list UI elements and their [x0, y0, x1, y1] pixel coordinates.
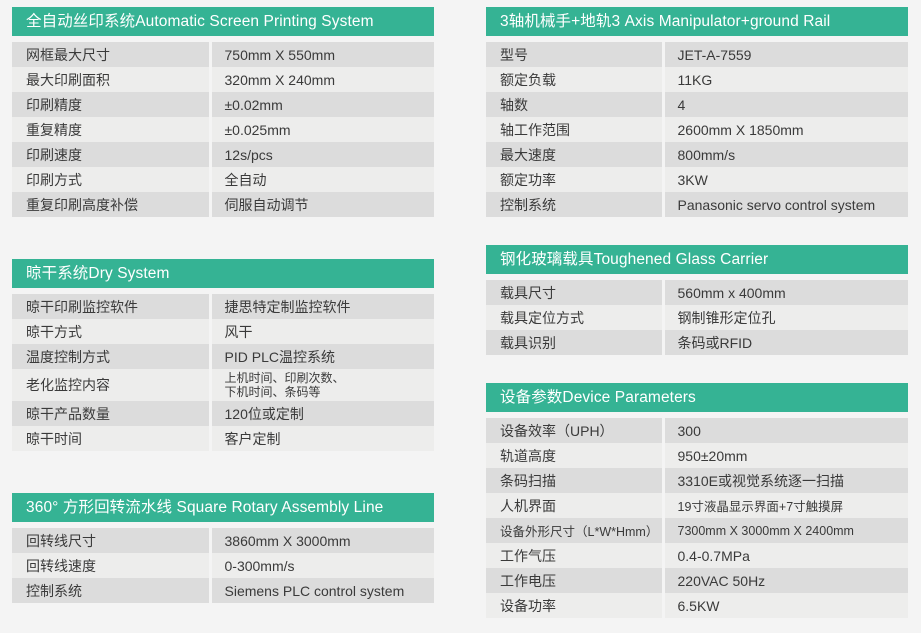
spec-sheet-page: 全自动丝印系统Automatic Screen Printing System …	[0, 0, 921, 633]
row-label: 晾干时间	[12, 426, 210, 451]
block-title-en: Automatic Screen Printing System	[135, 13, 373, 30]
row-value: 120位或定制	[210, 401, 434, 426]
table-row: 设备功率 6.5KW	[486, 593, 908, 618]
row-value: 伺服自动调节	[210, 192, 434, 217]
table-row: 控制系统 Siemens PLC control system	[12, 578, 434, 603]
table-row: 温度控制方式 PID PLC温控系统	[12, 344, 434, 369]
row-value: 2600mm X 1850mm	[663, 117, 908, 142]
row-value: 上机时间、印刷次数、 下机时间、条码等	[210, 369, 434, 401]
table-row: 设备外形尺寸（L*W*Hmm） 7300mm X 3000mm X 2400mm	[486, 518, 908, 543]
row-label: 人机界面	[486, 493, 663, 518]
row-value: 12s/pcs	[210, 142, 434, 167]
row-label: 轴数	[486, 92, 663, 117]
table-row: 载具定位方式 钢制锥形定位孔	[486, 305, 908, 330]
table-row: 工作电压 220VAC 50Hz	[486, 568, 908, 593]
table-row: 晾干产品数量 120位或定制	[12, 401, 434, 426]
row-label: 设备效率（UPH）	[486, 418, 663, 443]
row-label: 额定负载	[486, 67, 663, 92]
row-value-line-1: 上机时间、印刷次数、	[225, 371, 435, 385]
block-header-automatic-screen-printing-system: 全自动丝印系统Automatic Screen Printing System	[12, 7, 434, 36]
row-label: 载具尺寸	[486, 280, 663, 305]
block-title-cn: 晾干系统	[26, 265, 88, 282]
spec-block-automatic-screen-printing-system: 全自动丝印系统Automatic Screen Printing System …	[12, 7, 434, 217]
block-title-en: Toughened Glass Carrier	[594, 251, 769, 268]
row-value: 3KW	[663, 167, 908, 192]
row-label: 老化监控内容	[12, 369, 210, 401]
row-value: PID PLC温控系统	[210, 344, 434, 369]
table-row: 网框最大尺寸 750mm X 550mm	[12, 42, 434, 67]
spec-block-three-axis-manipulator-ground-rail: 3轴机械手+地轨3 Axis Manipulator+ground Rail 型…	[486, 7, 908, 217]
spec-table-three-axis-manipulator-ground-rail: 型号 JET-A-7559 额定负载 11KG 轴数 4 轴工作范围 2600m…	[486, 42, 908, 217]
block-title-en: Square Rotary Assembly Line	[177, 499, 384, 516]
row-value-line-2: 下机时间、条码等	[225, 385, 435, 399]
row-value: 19寸液晶显示界面+7寸触摸屏	[663, 493, 908, 518]
table-row: 条码扫描 3310E或视觉系统逐一扫描	[486, 468, 908, 493]
row-label: 晾干印刷监控软件	[12, 294, 210, 319]
table-row: 晾干方式 风干	[12, 319, 434, 344]
block-title-cn: 全自动丝印系统	[26, 13, 135, 30]
spec-table-automatic-screen-printing-system: 网框最大尺寸 750mm X 550mm 最大印刷面积 320mm X 240m…	[12, 42, 434, 217]
row-value: Panasonic servo control system	[663, 192, 908, 217]
row-value: ±0.02mm	[210, 92, 434, 117]
row-value: 0.4-0.7MPa	[663, 543, 908, 568]
row-label: 型号	[486, 42, 663, 67]
row-label: 网框最大尺寸	[12, 42, 210, 67]
block-title-cn: 3轴机械手+地轨	[500, 13, 611, 30]
table-row: 最大速度 800mm/s	[486, 142, 908, 167]
row-value: 950±20mm	[663, 443, 908, 468]
right-column: 3轴机械手+地轨3 Axis Manipulator+ground Rail 型…	[470, 0, 921, 633]
table-row: 控制系统 Panasonic servo control system	[486, 192, 908, 217]
table-row: 轨道高度 950±20mm	[486, 443, 908, 468]
block-spacer	[12, 459, 434, 493]
row-label: 工作气压	[486, 543, 663, 568]
block-title-en: 3 Axis Manipulator+ground Rail	[611, 13, 830, 30]
table-row: 回转线尺寸 3860mm X 3000mm	[12, 528, 434, 553]
table-row: 重复精度 ±0.025mm	[12, 117, 434, 142]
left-column: 全自动丝印系统Automatic Screen Printing System …	[0, 0, 470, 633]
row-value: 750mm X 550mm	[210, 42, 434, 67]
row-value: 0-300mm/s	[210, 553, 434, 578]
row-value: 300	[663, 418, 908, 443]
row-label: 载具定位方式	[486, 305, 663, 330]
row-label: 设备功率	[486, 593, 663, 618]
table-row: 设备效率（UPH） 300	[486, 418, 908, 443]
table-row: 晾干印刷监控软件 捷思特定制监控软件	[12, 294, 434, 319]
spec-block-toughened-glass-carrier: 钢化玻璃载具Toughened Glass Carrier 载具尺寸 560mm…	[486, 245, 908, 355]
row-value: Siemens PLC control system	[210, 578, 434, 603]
table-row: 老化监控内容 上机时间、印刷次数、 下机时间、条码等	[12, 369, 434, 401]
table-row: 载具尺寸 560mm x 400mm	[486, 280, 908, 305]
row-value: 320mm X 240mm	[210, 67, 434, 92]
spec-table-toughened-glass-carrier: 载具尺寸 560mm x 400mm 载具定位方式 钢制锥形定位孔 载具识别 条…	[486, 280, 908, 355]
row-label: 印刷精度	[12, 92, 210, 117]
table-row: 重复印刷高度补偿 伺服自动调节	[12, 192, 434, 217]
row-label: 条码扫描	[486, 468, 663, 493]
row-value: 4	[663, 92, 908, 117]
table-row: 额定功率 3KW	[486, 167, 908, 192]
row-value: 捷思特定制监控软件	[210, 294, 434, 319]
row-label: 晾干方式	[12, 319, 210, 344]
row-value: JET-A-7559	[663, 42, 908, 67]
block-title-en: Dry System	[88, 265, 169, 282]
block-title-cn: 设备参数	[500, 389, 562, 406]
spec-table-square-rotary-assembly-line: 回转线尺寸 3860mm X 3000mm 回转线速度 0-300mm/s 控制…	[12, 528, 434, 603]
block-title-cn: 360° 方形回转流水线	[26, 499, 172, 516]
block-header-device-parameters: 设备参数Device Parameters	[486, 383, 908, 412]
row-value: 条码或RFID	[663, 330, 908, 355]
table-row: 载具识别 条码或RFID	[486, 330, 908, 355]
row-label: 工作电压	[486, 568, 663, 593]
table-row: 人机界面 19寸液晶显示界面+7寸触摸屏	[486, 493, 908, 518]
block-title-cn: 钢化玻璃载具	[500, 251, 594, 268]
block-header-three-axis-manipulator-ground-rail: 3轴机械手+地轨3 Axis Manipulator+ground Rail	[486, 7, 908, 36]
row-label: 晾干产品数量	[12, 401, 210, 426]
row-value: 3310E或视觉系统逐一扫描	[663, 468, 908, 493]
row-label: 最大印刷面积	[12, 67, 210, 92]
row-value: 风干	[210, 319, 434, 344]
row-label: 回转线尺寸	[12, 528, 210, 553]
row-value: 560mm x 400mm	[663, 280, 908, 305]
row-label: 轴工作范围	[486, 117, 663, 142]
table-row: 工作气压 0.4-0.7MPa	[486, 543, 908, 568]
block-spacer	[12, 225, 434, 259]
table-row: 额定负载 11KG	[486, 67, 908, 92]
row-value: 220VAC 50Hz	[663, 568, 908, 593]
row-label: 印刷速度	[12, 142, 210, 167]
table-row: 最大印刷面积 320mm X 240mm	[12, 67, 434, 92]
row-value: 3860mm X 3000mm	[210, 528, 434, 553]
row-value: 800mm/s	[663, 142, 908, 167]
row-value: 客户定制	[210, 426, 434, 451]
spec-table-device-parameters: 设备效率（UPH） 300 轨道高度 950±20mm 条码扫描 3310E或视…	[486, 418, 908, 618]
row-value: 6.5KW	[663, 593, 908, 618]
table-row: 印刷方式 全自动	[12, 167, 434, 192]
block-spacer	[486, 225, 908, 245]
block-spacer	[486, 363, 908, 383]
row-value: ±0.025mm	[210, 117, 434, 142]
spec-block-dry-system: 晾干系统Dry System 晾干印刷监控软件 捷思特定制监控软件 晾干方式 风…	[12, 259, 434, 451]
table-row: 轴工作范围 2600mm X 1850mm	[486, 117, 908, 142]
table-row: 印刷速度 12s/pcs	[12, 142, 434, 167]
row-label: 控制系统	[486, 192, 663, 217]
row-label: 重复精度	[12, 117, 210, 142]
row-label: 载具识别	[486, 330, 663, 355]
row-label: 控制系统	[12, 578, 210, 603]
row-label: 额定功率	[486, 167, 663, 192]
table-row: 印刷精度 ±0.02mm	[12, 92, 434, 117]
row-value: 7300mm X 3000mm X 2400mm	[663, 518, 908, 543]
row-value: 钢制锥形定位孔	[663, 305, 908, 330]
row-label: 回转线速度	[12, 553, 210, 578]
spec-block-device-parameters: 设备参数Device Parameters 设备效率（UPH） 300 轨道高度…	[486, 383, 908, 618]
row-label: 最大速度	[486, 142, 663, 167]
row-value: 11KG	[663, 67, 908, 92]
table-row: 轴数 4	[486, 92, 908, 117]
spec-block-square-rotary-assembly-line: 360° 方形回转流水线 Square Rotary Assembly Line…	[12, 493, 434, 603]
block-header-square-rotary-assembly-line: 360° 方形回转流水线 Square Rotary Assembly Line	[12, 493, 434, 522]
row-label: 印刷方式	[12, 167, 210, 192]
table-row: 型号 JET-A-7559	[486, 42, 908, 67]
block-title-en: Device Parameters	[562, 389, 696, 406]
table-row: 回转线速度 0-300mm/s	[12, 553, 434, 578]
row-label: 设备外形尺寸（L*W*Hmm）	[486, 518, 663, 543]
block-header-toughened-glass-carrier: 钢化玻璃载具Toughened Glass Carrier	[486, 245, 908, 274]
block-header-dry-system: 晾干系统Dry System	[12, 259, 434, 288]
table-row: 晾干时间 客户定制	[12, 426, 434, 451]
row-label: 重复印刷高度补偿	[12, 192, 210, 217]
spec-table-dry-system: 晾干印刷监控软件 捷思特定制监控软件 晾干方式 风干 温度控制方式 PID PL…	[12, 294, 434, 451]
row-label: 轨道高度	[486, 443, 663, 468]
row-value: 全自动	[210, 167, 434, 192]
row-label: 温度控制方式	[12, 344, 210, 369]
